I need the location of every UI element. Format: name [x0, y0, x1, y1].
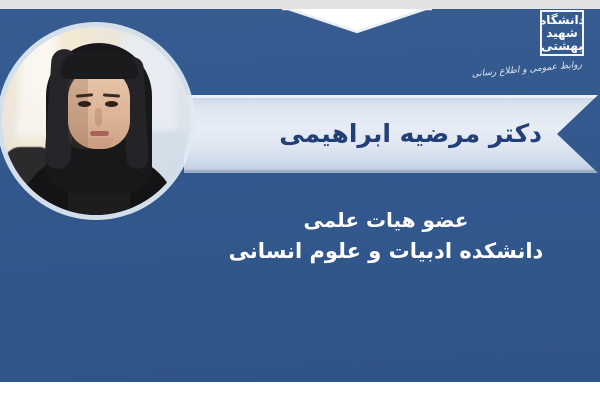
avatar: [2, 27, 190, 215]
eyebrow-right: [103, 93, 120, 97]
logo-subtitle: روابط عمومی و اطلاع رسانی: [496, 60, 583, 78]
nose: [95, 108, 102, 126]
portrait-photo: [2, 27, 190, 215]
top-edge-strip: [0, 0, 600, 9]
face: [68, 67, 130, 149]
logo-line-1: دانشگاه: [540, 14, 584, 27]
eye-right: [105, 101, 118, 107]
hijab-front-edge: [60, 53, 138, 79]
name-ribbon: دکتر مرضیه ابراهیمی: [184, 95, 598, 173]
ribbon-shadow: [184, 170, 598, 173]
page-title: دکتر مرضیه ابراهیمی: [279, 119, 542, 148]
role-line-position: عضو هیات علمی: [190, 205, 582, 235]
role-line-department: دانشکده ادبیات و علوم انسانی: [190, 235, 582, 267]
logo-mark: دانشگاه شهید بهشتی: [540, 10, 584, 56]
mouth: [90, 131, 109, 136]
faculty-profile-banner: دکتر مرضیه ابراهیمی: [0, 0, 600, 400]
university-logo: دانشگاه شهید بهشتی روابط عمومی و اطلاع ر…: [496, 10, 584, 92]
eye-left: [78, 101, 91, 107]
logo-line-2: شهید: [546, 27, 578, 40]
ribbon-highlight: [184, 95, 598, 98]
chin-shadow: [84, 137, 114, 149]
logo-line-3: بهشتی: [541, 40, 583, 53]
role-block: عضو هیات علمی دانشکده ادبیات و علوم انسا…: [190, 205, 582, 267]
